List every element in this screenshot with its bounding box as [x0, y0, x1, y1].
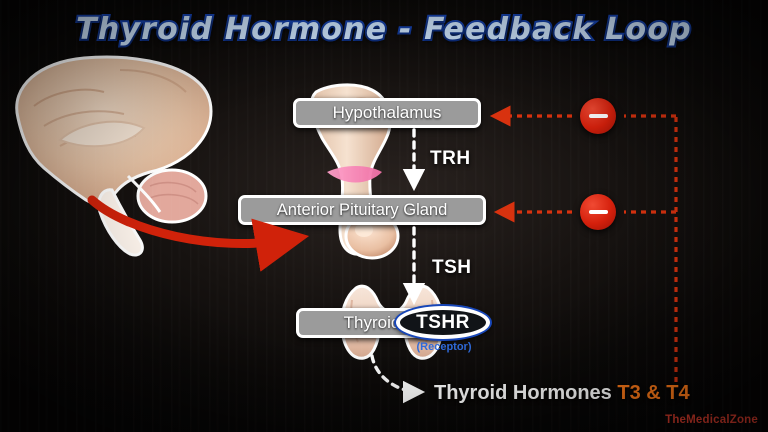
tshr-badge: TSHR	[396, 306, 490, 339]
page-title: Thyroid Hormone - Feedback Loop	[0, 12, 768, 47]
label-hypothalamus: Hypothalamus	[293, 98, 481, 128]
thyroid-hormones-label: Thyroid Hormones T3 & T4	[434, 382, 690, 405]
arrow-label-tsh: TSH	[432, 257, 472, 279]
label-hypothalamus-text: Hypothalamus	[333, 103, 442, 123]
inhibition-symbol-pituitary	[580, 194, 616, 230]
minus-icon	[589, 210, 608, 214]
diagram-canvas: Hypothalamus Anterior Pituitary Gland Th…	[0, 0, 768, 432]
thyroid-hormones-text: Thyroid Hormones	[434, 382, 617, 404]
tshr-label: TSHR	[416, 312, 470, 334]
brain-sagittal-illustration	[17, 57, 211, 255]
inhibition-symbol-hypothalamus	[580, 98, 616, 134]
tshr-receptor-sublabel: (Receptor)	[399, 341, 489, 353]
arrow-label-trh: TRH	[430, 148, 471, 170]
t3-t4-text: T3 & T4	[617, 382, 689, 404]
minus-icon	[589, 114, 608, 118]
label-thyroid-text: Thyroid	[344, 313, 401, 333]
label-anterior-pituitary-gland: Anterior Pituitary Gland	[238, 195, 486, 225]
watermark: TheMedicalZone	[665, 414, 758, 426]
label-anterior-pituitary-text: Anterior Pituitary Gland	[277, 201, 448, 220]
